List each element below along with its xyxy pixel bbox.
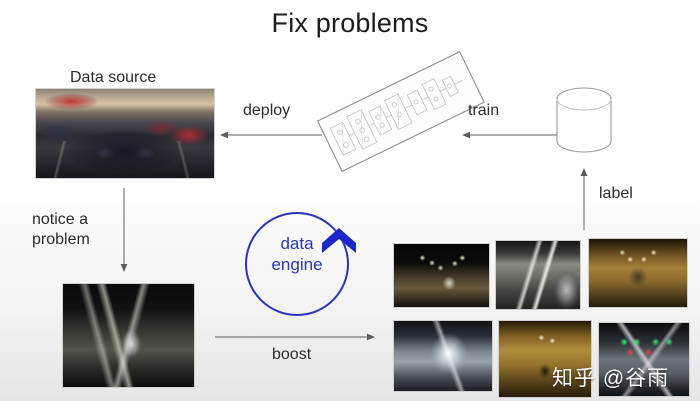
label-step-label: label bbox=[599, 184, 633, 204]
zhihu-watermark: 知乎 @谷雨 bbox=[552, 362, 669, 392]
page-title: Fix problems bbox=[0, 8, 700, 39]
problem-tunnel-photo bbox=[62, 283, 195, 388]
tunnel-grid-photo-1 bbox=[393, 243, 490, 308]
arrow-left-icon-train bbox=[462, 128, 558, 142]
tunnel-grid-photo-3-image bbox=[589, 239, 687, 307]
arrow-down-icon bbox=[117, 188, 131, 272]
arrow-right-icon bbox=[215, 330, 375, 344]
tunnel-grid-photo-1-image bbox=[394, 244, 489, 307]
tunnel-grid-photo-3 bbox=[588, 238, 688, 308]
problem-tunnel-photo-image bbox=[63, 284, 194, 387]
tunnel-grid-photo-2-image bbox=[496, 241, 580, 309]
tunnel-grid-photo-4-image bbox=[394, 321, 492, 391]
neural-network-diagram-icon bbox=[318, 52, 483, 172]
arrow-left-icon bbox=[220, 128, 322, 142]
data-source-label: Data source bbox=[70, 68, 156, 88]
slide-canvas: Fix problems Data source deploy bbox=[0, 0, 700, 401]
data-source-photo bbox=[35, 88, 215, 179]
tunnel-grid-photo-4 bbox=[393, 320, 493, 392]
database-cylinder-icon bbox=[552, 86, 616, 158]
deploy-label: deploy bbox=[243, 101, 290, 121]
train-label: train bbox=[468, 101, 499, 121]
notice-problem-label: notice a problem bbox=[32, 210, 118, 250]
tunnel-grid-photo-2 bbox=[495, 240, 581, 310]
boost-label: boost bbox=[272, 345, 311, 365]
arrow-up-icon bbox=[577, 168, 591, 230]
chevron-up-icon bbox=[322, 228, 356, 258]
parking-stripes-overlay bbox=[36, 141, 214, 178]
